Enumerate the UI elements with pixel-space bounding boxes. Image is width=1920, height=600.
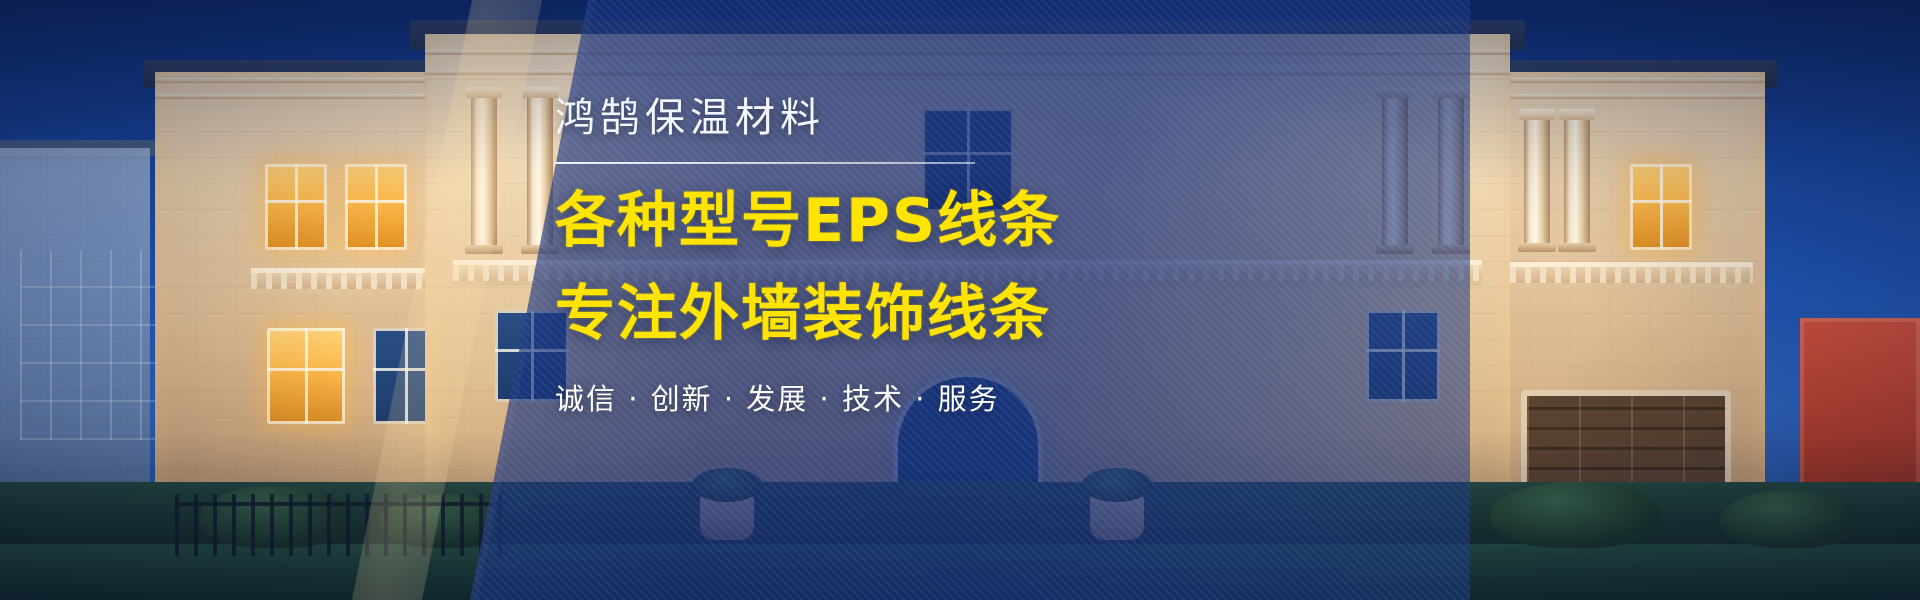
divider-rule <box>555 162 975 164</box>
banner-content: 鸿鹄保温材料 各种型号EPS线条 专注外墙装饰线条 诚信 · 创新 · 发展 ·… <box>555 96 1075 418</box>
hero-banner: 鸿鹄保温材料 各种型号EPS线条 专注外墙装饰线条 诚信 · 创新 · 发展 ·… <box>0 0 1920 600</box>
tagline: 诚信 · 创新 · 发展 · 技术 · 服务 <box>555 376 1075 418</box>
headline-line-1: 各种型号EPS线条 <box>555 186 1075 257</box>
headline-line-2: 专注外墙装饰线条 <box>555 279 1075 350</box>
brand-name: 鸿鹄保温材料 <box>555 96 1075 140</box>
